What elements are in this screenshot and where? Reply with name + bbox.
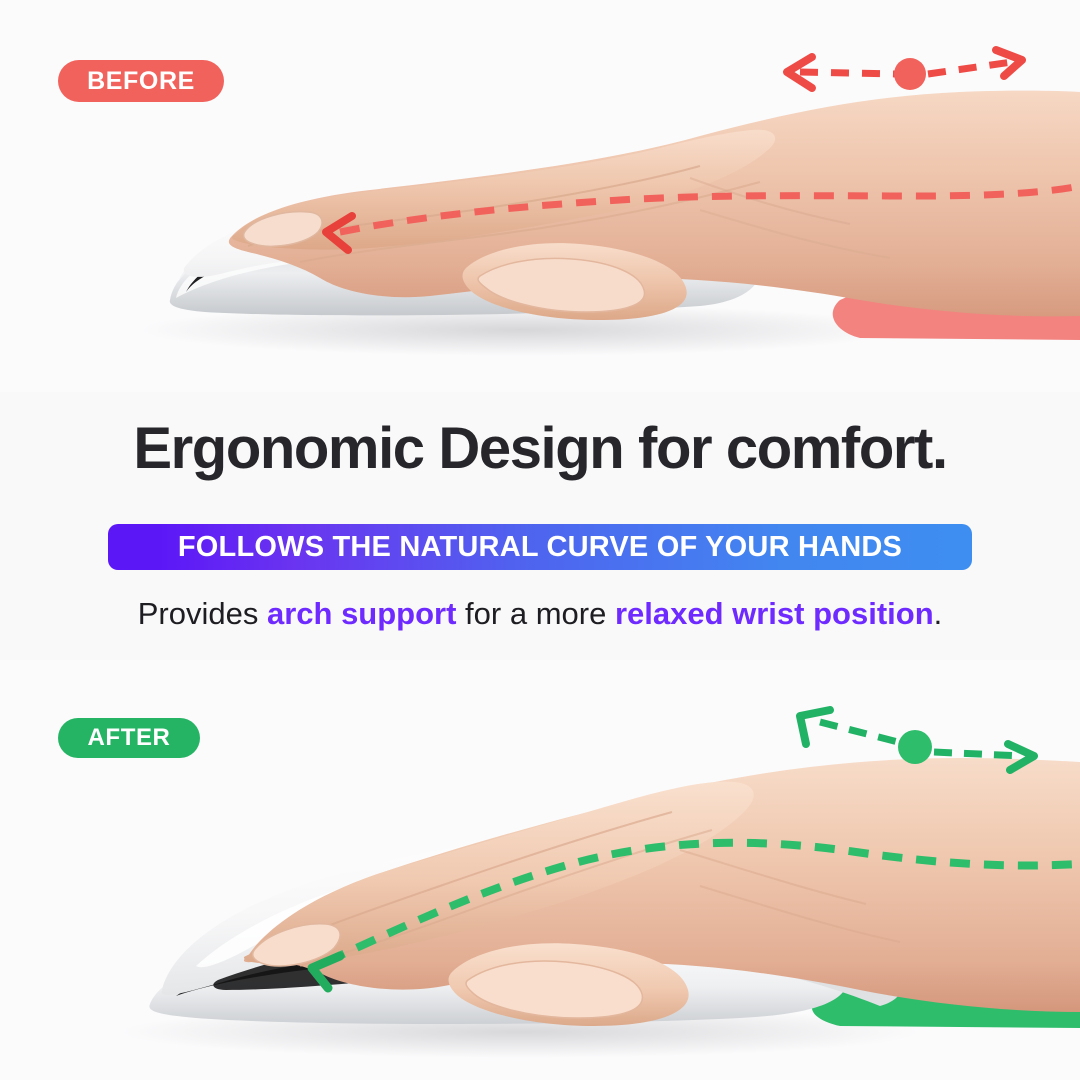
after-badge-label: AFTER <box>88 726 171 750</box>
feature-banner-label: FOLLOWS THE NATURAL CURVE OF YOUR HANDS <box>178 533 902 562</box>
subtitle: Provides arch support for a more relaxed… <box>0 598 1080 629</box>
before-badge-label: BEFORE <box>87 69 195 94</box>
before-pivot-dot-icon <box>894 58 926 90</box>
subtitle-highlight-1: arch support <box>267 596 456 631</box>
subtitle-part-1: Provides <box>138 596 267 631</box>
after-pivot-dot-icon <box>898 730 932 764</box>
after-badge: AFTER <box>58 718 200 758</box>
subtitle-highlight-2: relaxed wrist position <box>615 596 934 631</box>
feature-banner: FOLLOWS THE NATURAL CURVE OF YOUR HANDS <box>108 524 972 570</box>
before-badge: BEFORE <box>58 60 224 102</box>
subtitle-part-2: for a more <box>456 596 615 631</box>
subtitle-part-3: . <box>934 596 943 631</box>
before-photo-panel <box>0 0 1080 392</box>
before-illustration <box>0 0 1080 392</box>
page-title: Ergonomic Design for comfort. <box>0 420 1080 478</box>
text-block: Ergonomic Design for comfort. FOLLOWS TH… <box>0 398 1080 660</box>
promo-graphic: BEFORE Ergonomic Design for comfort. FOL… <box>0 0 1080 1080</box>
